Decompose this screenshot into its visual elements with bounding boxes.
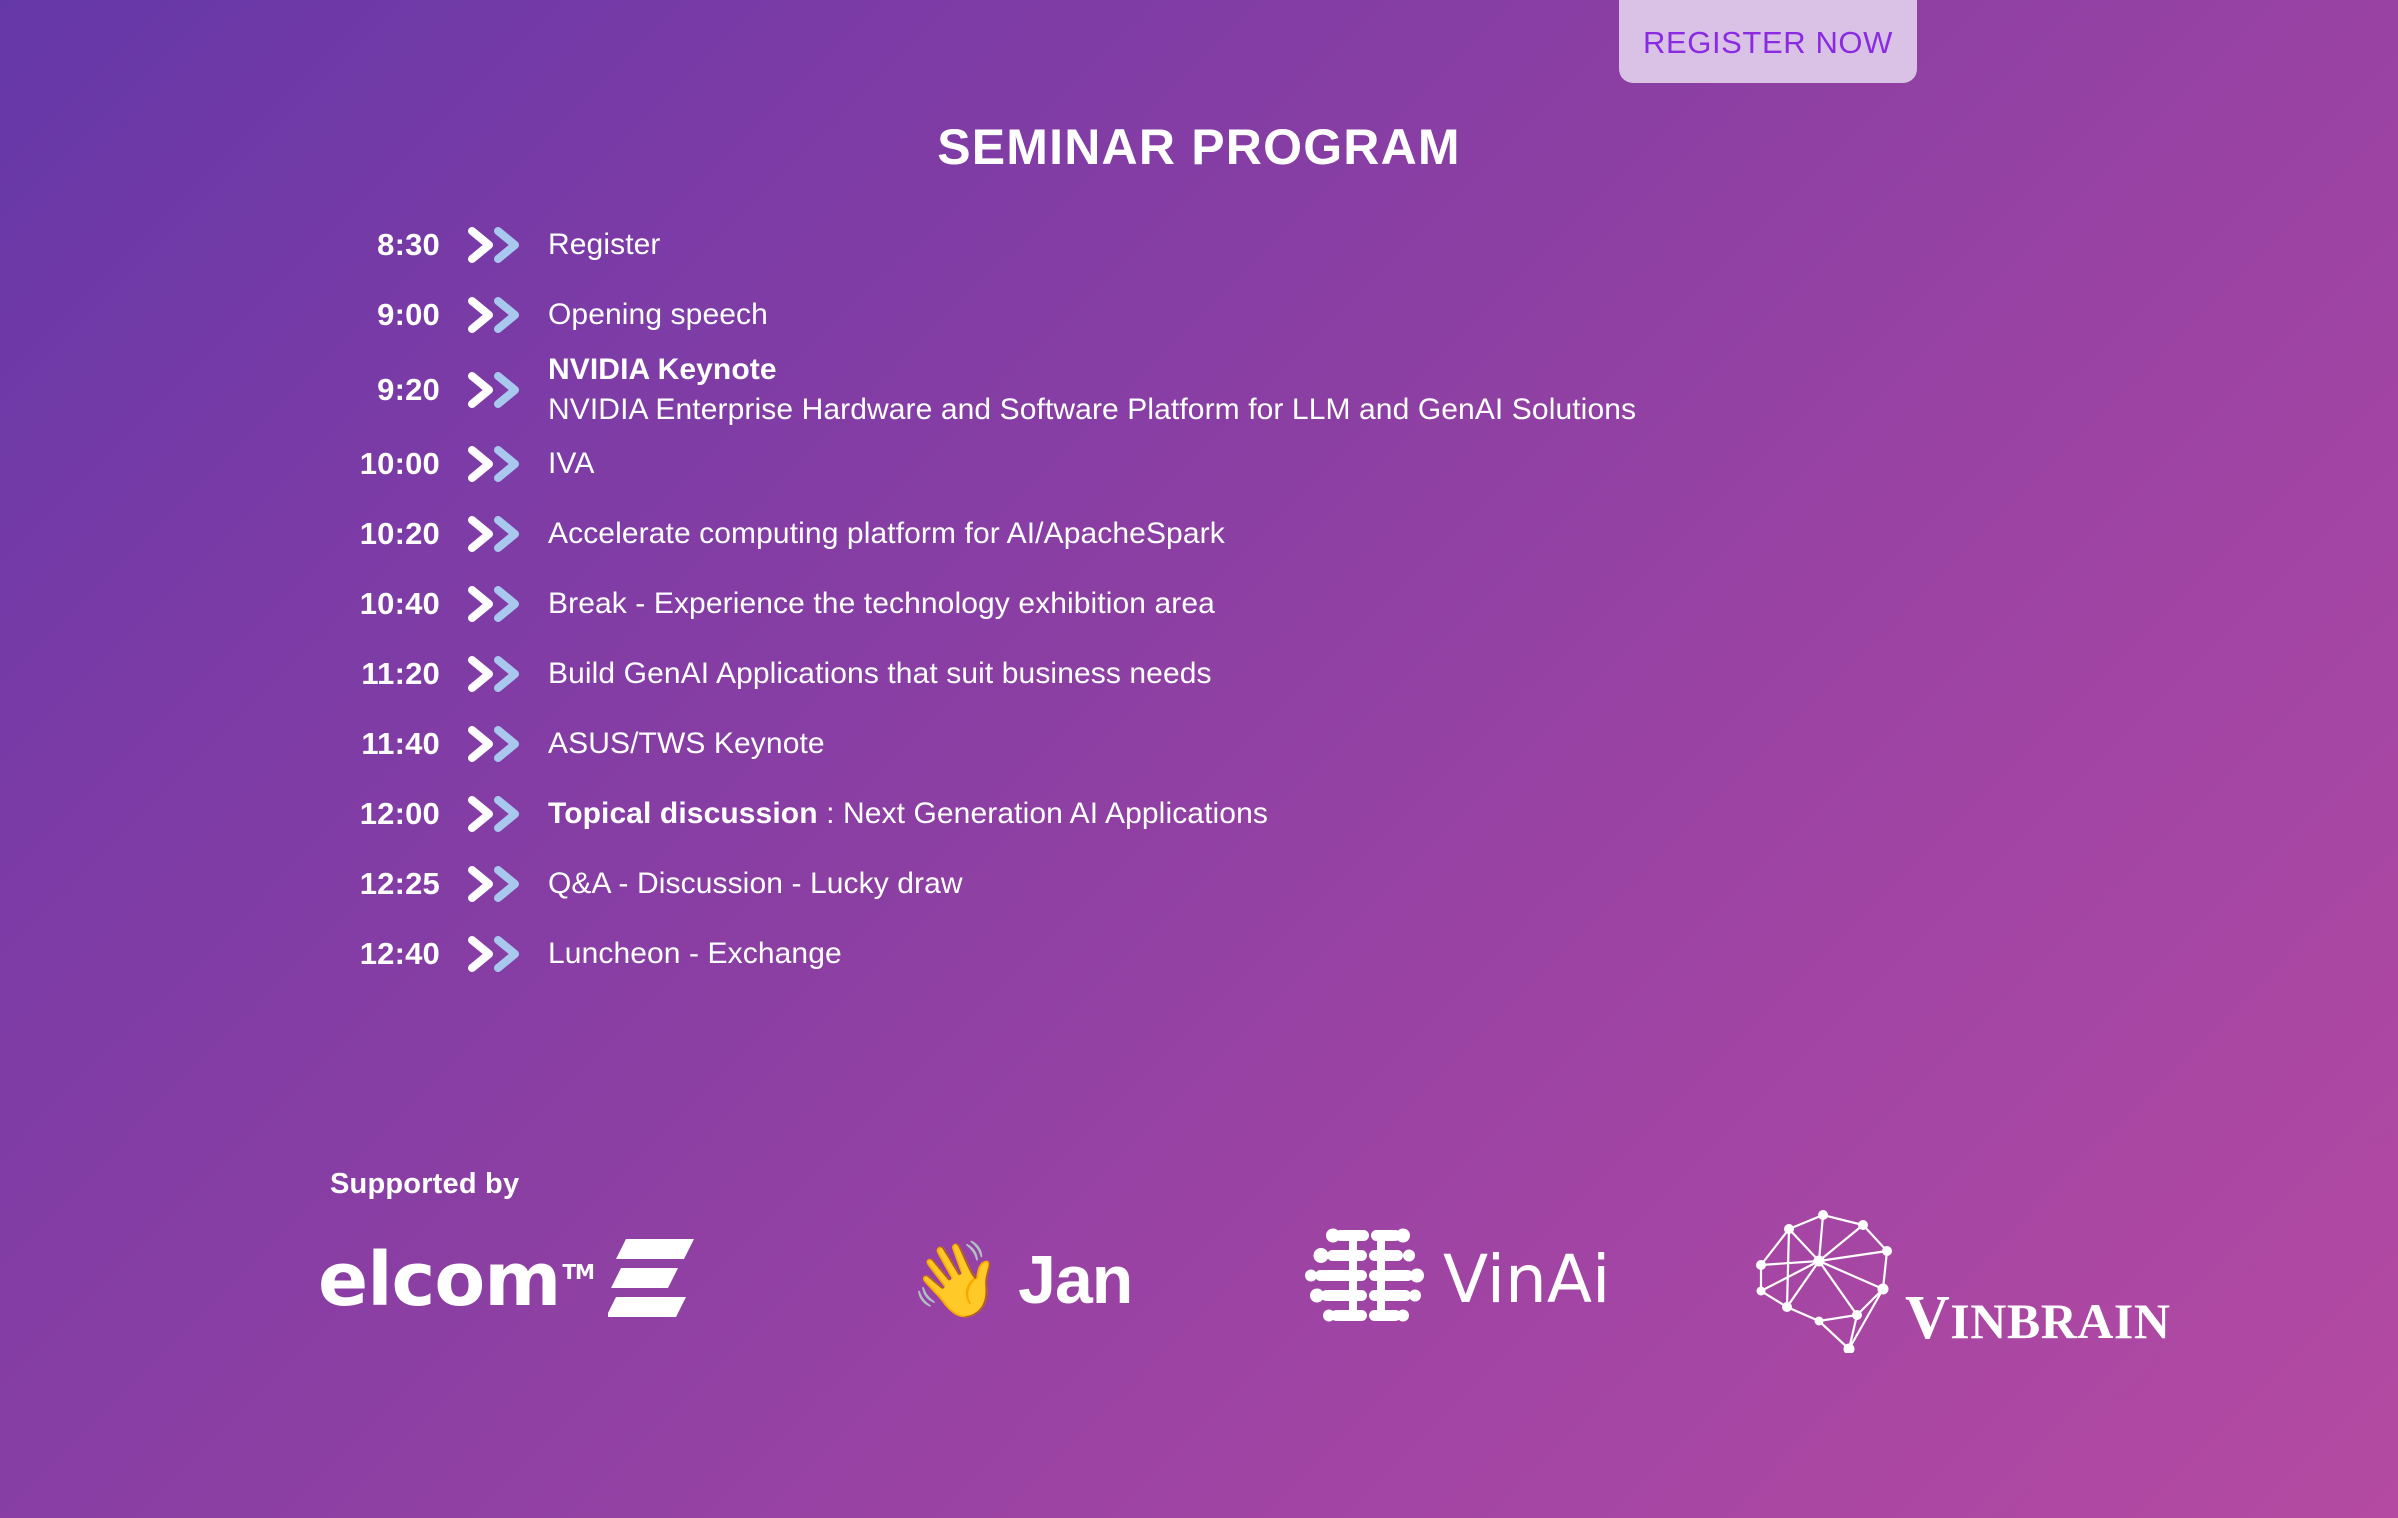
jan-wordmark: Jan — [1018, 1246, 1132, 1314]
agenda-entry-title: Luncheon - Exchange — [548, 937, 842, 970]
agenda-time: 11:40 — [0, 726, 440, 762]
double-chevron-right-icon — [456, 795, 536, 833]
agenda-entry-text: Accelerate computing platform for AI/Apa… — [548, 514, 1225, 554]
agenda-entry-text: Register — [548, 225, 661, 265]
sponsor-logo-elcom: elcomTM — [300, 1239, 780, 1322]
agenda-entry-title: NVIDIA Keynote — [548, 350, 1636, 390]
double-chevron-right-icon — [456, 655, 536, 693]
agenda-entry-text: IVA — [548, 444, 594, 484]
agenda-time: 12:25 — [0, 866, 440, 902]
elcom-e-mark-icon — [608, 1239, 694, 1322]
sponsor-logo-strip: elcomTM 👋 Jan — [300, 1205, 2200, 1355]
agenda-time: 11:20 — [0, 656, 440, 692]
seminar-agenda-list: 8:30 Register9:00 Opening speech9:20 NVI… — [0, 210, 2398, 989]
agenda-row: 10:20 Accelerate computing platform for … — [0, 499, 2398, 569]
agenda-entry-title: ASUS/TWS Keynote — [548, 727, 825, 760]
double-chevron-right-icon — [456, 865, 536, 903]
double-chevron-right-icon — [456, 226, 536, 264]
agenda-entry-text: Luncheon - Exchange — [548, 934, 842, 974]
agenda-time: 10:20 — [0, 516, 440, 552]
vinai-wordmark: VinAi — [1443, 1247, 1610, 1313]
agenda-time: 9:20 — [0, 372, 440, 408]
agenda-time: 12:40 — [0, 936, 440, 972]
agenda-row: 11:20 Build GenAI Applications that suit… — [0, 639, 2398, 709]
double-chevron-right-icon — [456, 725, 536, 763]
double-chevron-right-icon — [456, 585, 536, 623]
sponsor-logo-jan: 👋 Jan — [780, 1243, 1200, 1317]
agenda-entry-title-rest: : Next Generation AI Applications — [818, 797, 1268, 830]
agenda-row: 9:20 NVIDIA KeynoteNVIDIA Enterprise Har… — [0, 350, 2398, 429]
double-chevron-right-icon — [456, 515, 536, 553]
double-chevron-right-icon — [456, 296, 536, 334]
agenda-row: 10:40 Break - Experience the technology … — [0, 569, 2398, 639]
agenda-entry-text: Build GenAI Applications that suit busin… — [548, 654, 1212, 694]
agenda-entry-text: Topical discussion : Next Generation AI … — [548, 794, 1268, 834]
waving-hand-icon: 👋 — [910, 1243, 1002, 1317]
agenda-entry-title: Accelerate computing platform for AI/Apa… — [548, 517, 1225, 550]
register-now-button[interactable]: REGISTER NOW — [1619, 0, 1917, 83]
agenda-entry-text: ASUS/TWS Keynote — [548, 724, 825, 764]
agenda-row: 9:00 Opening speech — [0, 280, 2398, 350]
elcom-wordmark: elcomTM — [318, 1243, 594, 1317]
supported-by-label: Supported by — [330, 1168, 519, 1201]
agenda-entry-text: Break - Experience the technology exhibi… — [548, 584, 1215, 624]
agenda-time: 8:30 — [0, 227, 440, 263]
vinbrain-wordmark: VINBRAIN — [1905, 1287, 2170, 1349]
page-title: SEMINAR PROGRAM — [0, 118, 2398, 176]
double-chevron-right-icon — [456, 935, 536, 973]
agenda-row: 8:30 Register — [0, 210, 2398, 280]
agenda-entry-title: Break - Experience the technology exhibi… — [548, 587, 1215, 620]
agenda-entry-title: Build GenAI Applications that suit busin… — [548, 657, 1212, 690]
agenda-entry-title: IVA — [548, 447, 594, 480]
agenda-entry-text: Q&A - Discussion - Lucky draw — [548, 864, 963, 904]
double-chevron-right-icon — [456, 371, 536, 409]
agenda-entry-text: Opening speech — [548, 295, 768, 335]
agenda-row: 10:00 IVA — [0, 429, 2398, 499]
agenda-time: 12:00 — [0, 796, 440, 832]
double-chevron-right-icon — [456, 445, 536, 483]
agenda-row: 11:40 ASUS/TWS Keynote — [0, 709, 2398, 779]
agenda-entry-title: Q&A - Discussion - Lucky draw — [548, 867, 963, 900]
vinai-neural-mark-icon — [1305, 1222, 1425, 1339]
agenda-time: 10:00 — [0, 446, 440, 482]
sponsor-logo-vinai: VinAi — [1200, 1222, 1650, 1339]
agenda-entry-subtitle: NVIDIA Enterprise Hardware and Software … — [548, 390, 1636, 430]
agenda-time: 10:40 — [0, 586, 440, 622]
agenda-row: 12:00 Topical discussion : Next Generati… — [0, 779, 2398, 849]
agenda-entry-title: Opening speech — [548, 298, 768, 331]
agenda-time: 9:00 — [0, 297, 440, 333]
agenda-row: 12:40 Luncheon - Exchange — [0, 919, 2398, 989]
agenda-entry-title: Topical discussion — [548, 797, 818, 830]
agenda-entry-title: Register — [548, 228, 661, 261]
agenda-entry-text: NVIDIA KeynoteNVIDIA Enterprise Hardware… — [548, 350, 1636, 429]
sponsor-logo-vinbrain: VINBRAIN — [1650, 1203, 2200, 1358]
agenda-row: 12:25 Q&A - Discussion - Lucky draw — [0, 849, 2398, 919]
